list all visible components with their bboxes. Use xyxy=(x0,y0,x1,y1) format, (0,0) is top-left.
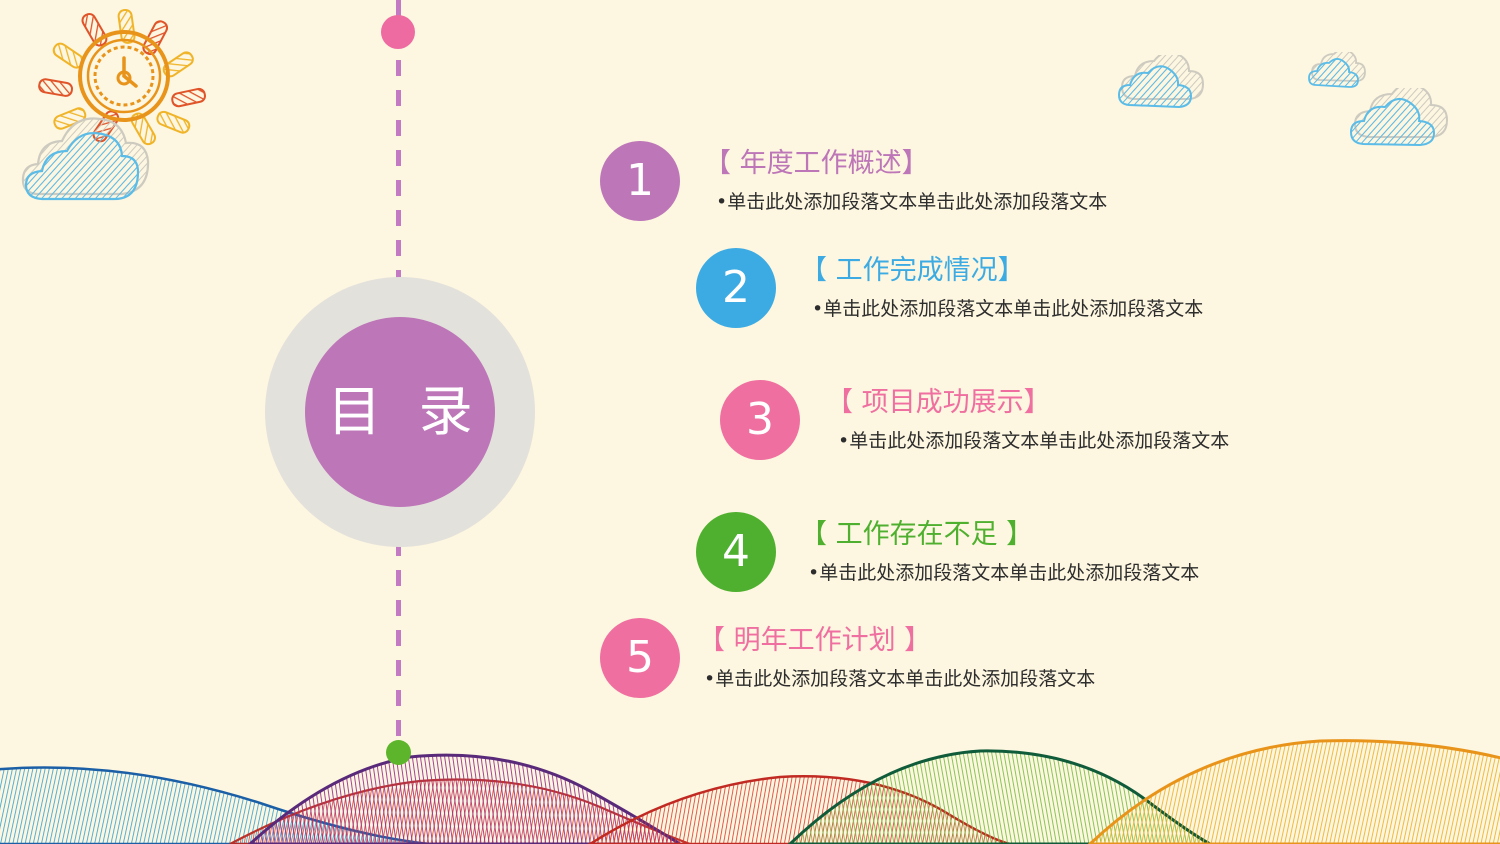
agenda-text-block-1: 【 年度工作概述】 •单击此处添加段落文本单击此处添加段落文本 xyxy=(704,141,1107,214)
agenda-title-4: 【 工作存在不足 】 xyxy=(800,518,1199,552)
agenda-number-badge-4[interactable]: 4 xyxy=(696,512,776,592)
agenda-desc-3: •单击此处添加段落文本单击此处添加段落文本 xyxy=(838,429,1229,454)
cloud-doodle xyxy=(1350,88,1460,150)
agenda-number-1: 1 xyxy=(626,159,654,203)
cloud-doodle xyxy=(1308,52,1370,88)
agenda-number-badge-1[interactable]: 1 xyxy=(600,141,680,221)
hill-doodles xyxy=(0,729,1500,844)
agenda-text-block-4: 【 工作存在不足 】 •单击此处添加段落文本单击此处添加段落文本 xyxy=(800,512,1199,585)
agenda-title-5: 【 明年工作计划 】 xyxy=(698,624,1095,658)
slide-canvas: 目 录 1 【 年度工作概述】 •单击此处添加段落文本单击此处添加段落文本 2 … xyxy=(0,0,1500,844)
agenda-item-3[interactable]: 3 【 项目成功展示】 •单击此处添加段落文本单击此处添加段落文本 xyxy=(720,380,1229,460)
agenda-text-block-3: 【 项目成功展示】 •单击此处添加段落文本单击此处添加段落文本 xyxy=(826,380,1229,453)
timeline-bottom-dot xyxy=(386,740,411,765)
agenda-item-2[interactable]: 2 【 工作完成情况】 •单击此处添加段落文本单击此处添加段落文本 xyxy=(696,248,1203,328)
agenda-title-3: 【 项目成功展示】 xyxy=(826,386,1229,420)
agenda-number-5: 5 xyxy=(626,636,654,680)
timeline-top-dot xyxy=(381,15,415,49)
agenda-number-badge-5[interactable]: 5 xyxy=(600,618,680,698)
contents-hub: 目 录 xyxy=(305,317,495,507)
agenda-item-1[interactable]: 1 【 年度工作概述】 •单击此处添加段落文本单击此处添加段落文本 xyxy=(600,141,1107,221)
agenda-text-block-5: 【 明年工作计划 】 •单击此处添加段落文本单击此处添加段落文本 xyxy=(698,618,1095,691)
agenda-item-4[interactable]: 4 【 工作存在不足 】 •单击此处添加段落文本单击此处添加段落文本 xyxy=(696,512,1199,592)
agenda-desc-2: •单击此处添加段落文本单击此处添加段落文本 xyxy=(812,297,1203,322)
agenda-number-2: 2 xyxy=(722,266,750,310)
sun-doodle xyxy=(8,0,298,211)
agenda-number-4: 4 xyxy=(722,530,750,574)
agenda-item-5[interactable]: 5 【 明年工作计划 】 •单击此处添加段落文本单击此处添加段落文本 xyxy=(600,618,1095,698)
contents-hub-label: 目 录 xyxy=(317,385,482,439)
agenda-number-badge-3[interactable]: 3 xyxy=(720,380,800,460)
agenda-text-block-2: 【 工作完成情况】 •单击此处添加段落文本单击此处添加段落文本 xyxy=(800,248,1203,321)
agenda-desc-1: •单击此处添加段落文本单击此处添加段落文本 xyxy=(716,190,1107,215)
agenda-number-badge-2[interactable]: 2 xyxy=(696,248,776,328)
agenda-desc-5: •单击此处添加段落文本单击此处添加段落文本 xyxy=(704,667,1095,692)
cloud-doodle xyxy=(1118,55,1218,110)
agenda-desc-4: •单击此处添加段落文本单击此处添加段落文本 xyxy=(808,561,1199,586)
agenda-title-2: 【 工作完成情况】 xyxy=(800,254,1203,288)
agenda-number-3: 3 xyxy=(746,398,774,442)
agenda-title-1: 【 年度工作概述】 xyxy=(704,147,1107,181)
